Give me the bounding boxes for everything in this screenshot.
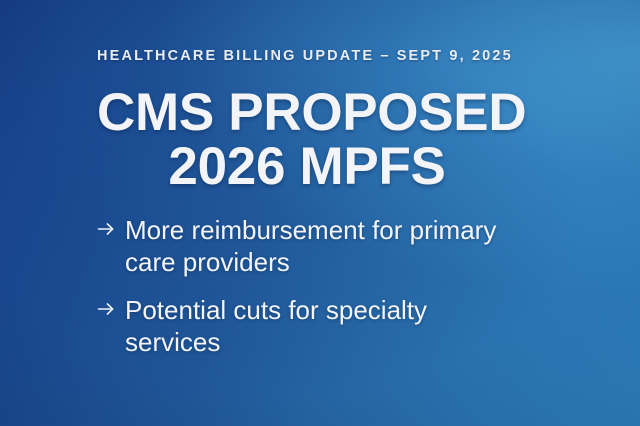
slide-bullet-list: More reimbursement for primary care prov… — [95, 214, 525, 358]
headline-line-2: 2026 MPFS — [97, 140, 517, 194]
list-item-label: Potential cuts for specialty services — [125, 294, 525, 358]
list-item-label: More reimbursement for primary care prov… — [125, 214, 525, 278]
list-item: More reimbursement for primary care prov… — [95, 214, 525, 278]
arrow-right-icon — [95, 218, 117, 240]
slide-content: HEALTHCARE BILLING UPDATE – SEPT 9, 2025… — [0, 0, 640, 426]
list-item: Potential cuts for specialty services — [95, 294, 525, 358]
headline-line-1: CMS PROPOSED — [97, 86, 517, 140]
slide-eyebrow-kicker: HEALTHCARE BILLING UPDATE – SEPT 9, 2025 — [97, 48, 513, 64]
presentation-slide: HEALTHCARE BILLING UPDATE – SEPT 9, 2025… — [0, 0, 640, 426]
slide-headline: CMS PROPOSED 2026 MPFS — [97, 86, 517, 194]
arrow-right-icon — [95, 298, 117, 320]
